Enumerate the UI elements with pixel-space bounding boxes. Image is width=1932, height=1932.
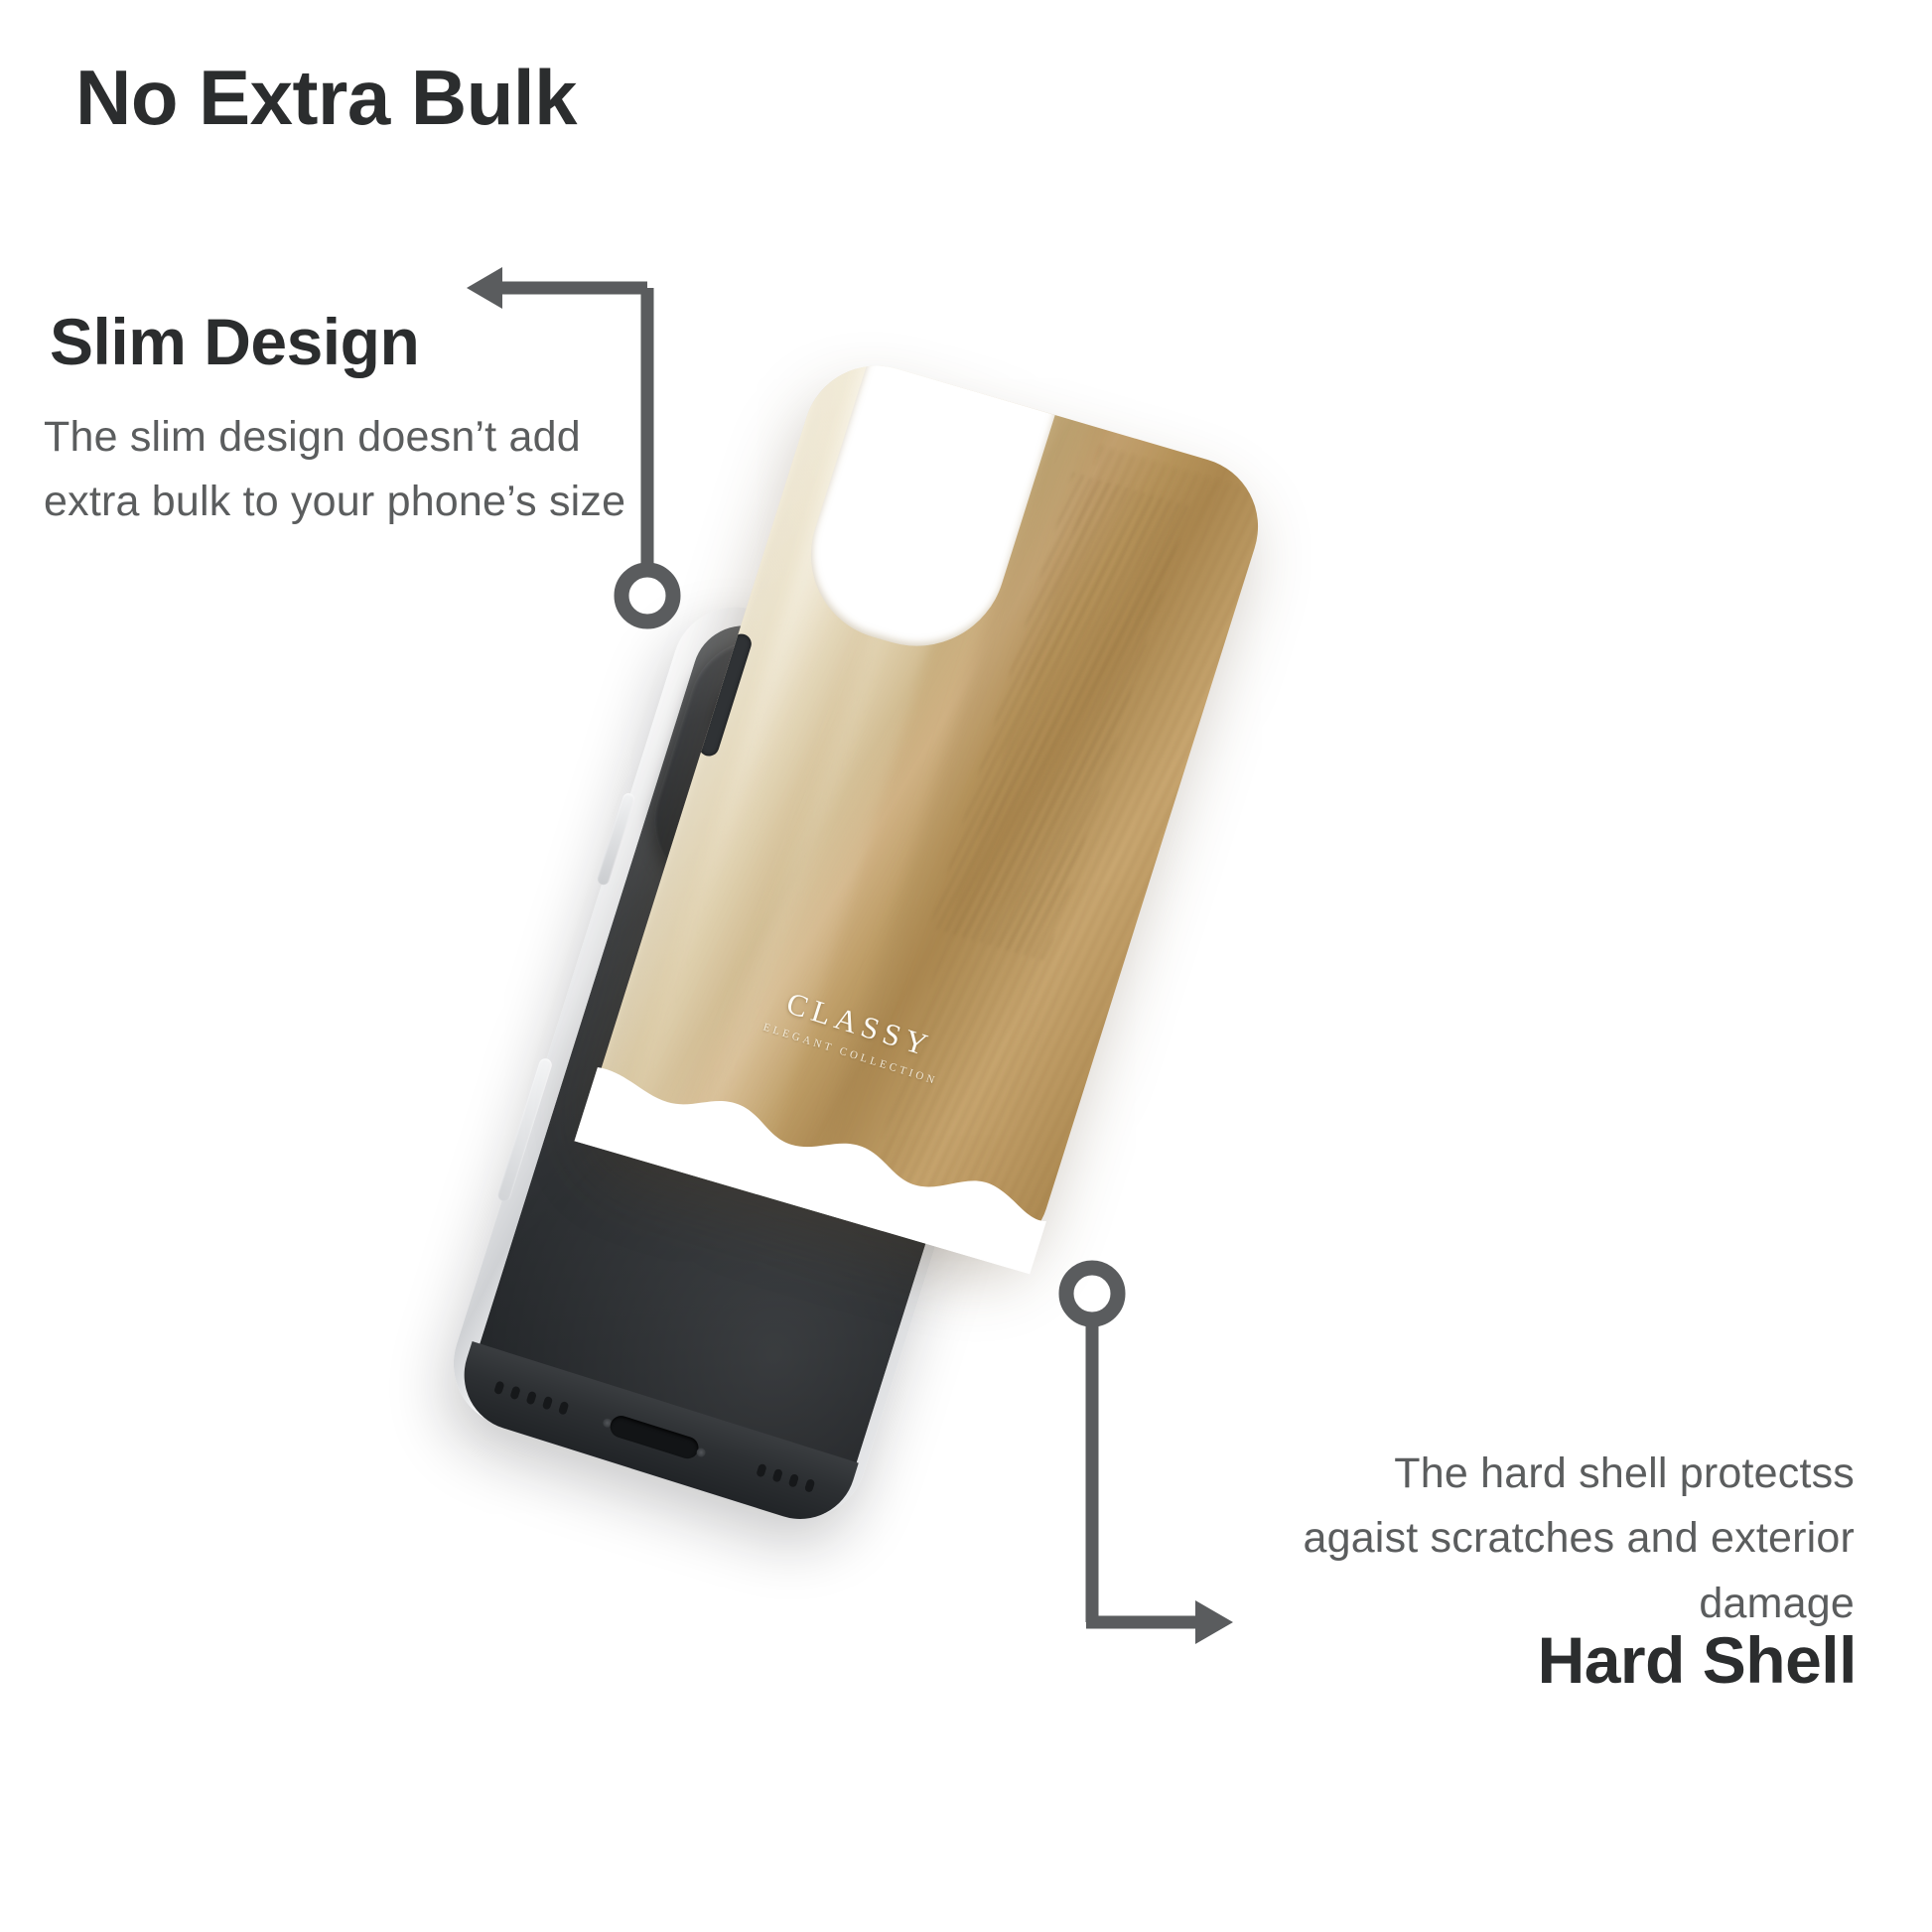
case-camera-cutout [789, 354, 1057, 666]
speaker-grille-icon [493, 1380, 569, 1415]
product-scene: CLASSY ELEGANT COLLECTION [0, 0, 1932, 1932]
phone-case: CLASSY ELEGANT COLLECTION [581, 348, 1277, 1266]
infographic-stage: No Extra Bulk Slim Design The slim desig… [0, 0, 1932, 1932]
speaker-grille-icon [756, 1463, 815, 1493]
charging-port-icon [608, 1413, 701, 1461]
screw-icon [695, 1447, 706, 1457]
